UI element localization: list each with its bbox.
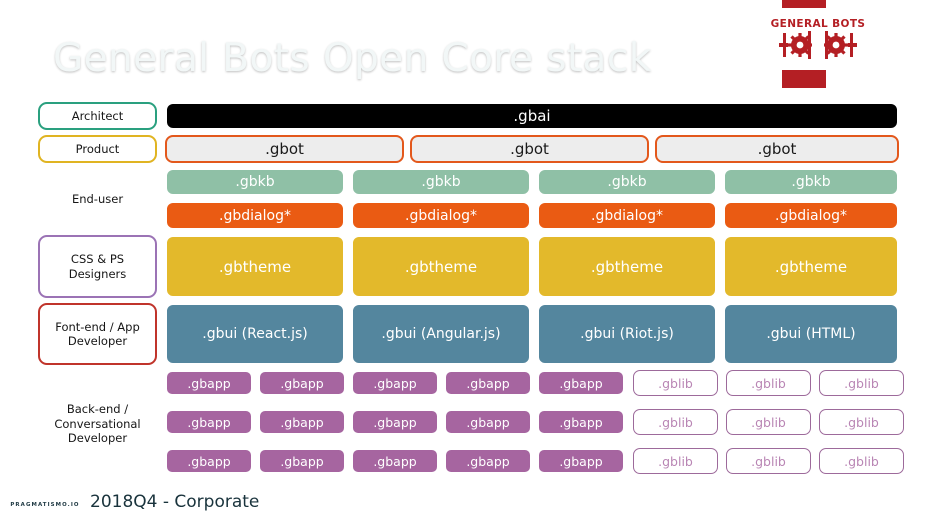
cell-label: .gbkb (791, 174, 830, 190)
cell-label: .gbai (513, 107, 550, 125)
module-gblib[interactable]: .gblib (726, 409, 811, 435)
cell-label: .gbapp (373, 415, 416, 430)
module-gbapp[interactable]: .gbapp (444, 370, 532, 396)
cell-label: .gbot (265, 140, 304, 158)
role-label: End-user (72, 192, 123, 206)
module-gbapp[interactable]: .gbapp (537, 409, 625, 435)
module-gbapp[interactable]: .gbapp (258, 409, 346, 435)
layer-gbot-2[interactable]: .gbot (410, 135, 649, 163)
cell-label: .gblib (751, 415, 786, 430)
cell-label: .gblib (658, 376, 693, 391)
layer-gbot-3[interactable]: .gbot (655, 135, 899, 163)
layer-gbkb-2[interactable]: .gbkb (351, 168, 531, 196)
cell-label: .gbapp (559, 415, 602, 430)
pragmatismo-label: PRAGMATISMO.IO (10, 502, 79, 508)
cell-label: .gbui (HTML) (766, 326, 855, 342)
cell-label: .gbapp (187, 415, 230, 430)
gears-logo-icon (779, 31, 857, 59)
cell-label: .gbkb (235, 174, 274, 190)
role-architect: Architect (38, 102, 157, 130)
module-gblib[interactable]: .gblib (819, 409, 904, 435)
layer-gbkb-1[interactable]: .gbkb (165, 168, 345, 196)
role-frontend-app-developer: Font-end / App Developer (38, 303, 157, 365)
layer-gbdialog-2[interactable]: .gbdialog* (351, 201, 531, 230)
pragmatismo-logo: PRAGMATISMO.IO (6, 498, 84, 512)
layer-gbkb-3[interactable]: .gbkb (537, 168, 717, 196)
footer-caption: 2018Q4 - Corporate (90, 492, 259, 512)
module-gbapp[interactable]: .gbapp (444, 409, 532, 435)
layer-gbtheme-3[interactable]: .gbtheme (537, 235, 717, 298)
cell-label: .gbtheme (219, 258, 291, 276)
module-gblib[interactable]: .gblib (819, 448, 904, 474)
cell-label: .gblib (844, 376, 879, 391)
cell-label: .gbapp (187, 454, 230, 469)
cell-label: .gbui (Riot.js) (580, 326, 674, 342)
layer-gbui-react[interactable]: .gbui (React.js) (165, 303, 345, 365)
cell-label: .gblib (658, 415, 693, 430)
role-product: Product (38, 135, 157, 163)
cell-label: .gbdialog* (219, 208, 291, 224)
layer-gbui-riot[interactable]: .gbui (Riot.js) (537, 303, 717, 365)
slide-canvas: GENERAL BOTS (0, 0, 927, 517)
module-gblib[interactable]: .gblib (633, 448, 718, 474)
cell-label: .gbapp (559, 376, 602, 391)
role-backend-conversational-developer: Back-end / Conversational Developer (38, 370, 157, 478)
cell-label: .gblib (844, 415, 879, 430)
cell-label: .gblib (751, 454, 786, 469)
layer-gbkb-4[interactable]: .gbkb (723, 168, 899, 196)
role-label: Back-end / Conversational Developer (44, 402, 151, 445)
cell-label: .gbkb (421, 174, 460, 190)
module-gblib[interactable]: .gblib (633, 370, 718, 396)
module-gblib[interactable]: .gblib (726, 370, 811, 396)
cell-label: .gbapp (466, 415, 509, 430)
cell-label: .gbot (510, 140, 549, 158)
cell-label: .gbapp (280, 454, 323, 469)
layer-gbtheme-1[interactable]: .gbtheme (165, 235, 345, 298)
layer-gbui-html[interactable]: .gbui (HTML) (723, 303, 899, 365)
stack-diagram: Architect Product End-user CSS & PS Desi… (38, 102, 899, 478)
cell-label: .gbapp (373, 376, 416, 391)
cell-label: .gbdialog* (405, 208, 477, 224)
cell-label: .gbtheme (591, 258, 663, 276)
cell-label: .gbapp (280, 415, 323, 430)
role-end-user: End-user (38, 168, 157, 230)
module-gbapp[interactable]: .gbapp (258, 370, 346, 396)
cell-label: .gbdialog* (591, 208, 663, 224)
cell-label: .gbapp (187, 376, 230, 391)
cell-label: .gbkb (607, 174, 646, 190)
page-title: General Bots Open Core stack (53, 36, 652, 81)
role-label: Product (76, 142, 120, 156)
module-gbapp[interactable]: .gbapp (444, 448, 532, 474)
cell-label: .gblib (751, 376, 786, 391)
role-label: Architect (72, 109, 124, 123)
layer-gbtheme-2[interactable]: .gbtheme (351, 235, 531, 298)
module-gbapp[interactable]: .gbapp (165, 448, 253, 474)
work-in-progress-note: *: Work in progress. (801, 489, 905, 501)
layer-gbot-1[interactable]: .gbot (165, 135, 404, 163)
cell-label: .gbapp (373, 454, 416, 469)
layer-gbai[interactable]: .gbai (165, 102, 899, 130)
module-gbapp[interactable]: .gbapp (351, 370, 439, 396)
layer-gbtheme-4[interactable]: .gbtheme (723, 235, 899, 298)
cell-label: .gbapp (280, 376, 323, 391)
module-gbapp[interactable]: .gbapp (165, 409, 253, 435)
cell-label: .gbot (758, 140, 797, 158)
module-gblib[interactable]: .gblib (819, 370, 904, 396)
cell-label: .gbapp (466, 376, 509, 391)
cell-label: .gblib (658, 454, 693, 469)
cell-label: .gblib (844, 454, 879, 469)
cell-label: .gbdialog* (775, 208, 847, 224)
role-label: Font-end / App Developer (44, 320, 151, 349)
cell-label: .gbui (Angular.js) (381, 326, 500, 342)
module-gblib[interactable]: .gblib (633, 409, 718, 435)
role-css-ps-designers: CSS & PS Designers (38, 235, 157, 298)
module-gbapp[interactable]: .gbapp (537, 370, 625, 396)
module-gbapp[interactable]: .gbapp (351, 409, 439, 435)
layer-gbdialog-4[interactable]: .gbdialog* (723, 201, 899, 230)
layer-gbdialog-1[interactable]: .gbdialog* (165, 201, 345, 230)
general-bots-logo: GENERAL BOTS (766, 8, 870, 70)
logo-wordmark: GENERAL BOTS (771, 19, 866, 30)
module-gblib[interactable]: .gblib (726, 448, 811, 474)
cell-label: .gbtheme (775, 258, 847, 276)
layer-gbdialog-3[interactable]: .gbdialog* (537, 201, 717, 230)
cell-label: .gbapp (559, 454, 602, 469)
layer-gbui-angular[interactable]: .gbui (Angular.js) (351, 303, 531, 365)
module-gbapp[interactable]: .gbapp (258, 448, 346, 474)
cell-label: .gbtheme (405, 258, 477, 276)
module-gbapp[interactable]: .gbapp (165, 370, 253, 396)
role-label: CSS & PS Designers (44, 252, 151, 281)
cell-label: .gbapp (466, 454, 509, 469)
module-gbapp[interactable]: .gbapp (537, 448, 625, 474)
module-gbapp[interactable]: .gbapp (351, 448, 439, 474)
cell-label: .gbui (React.js) (202, 326, 307, 342)
